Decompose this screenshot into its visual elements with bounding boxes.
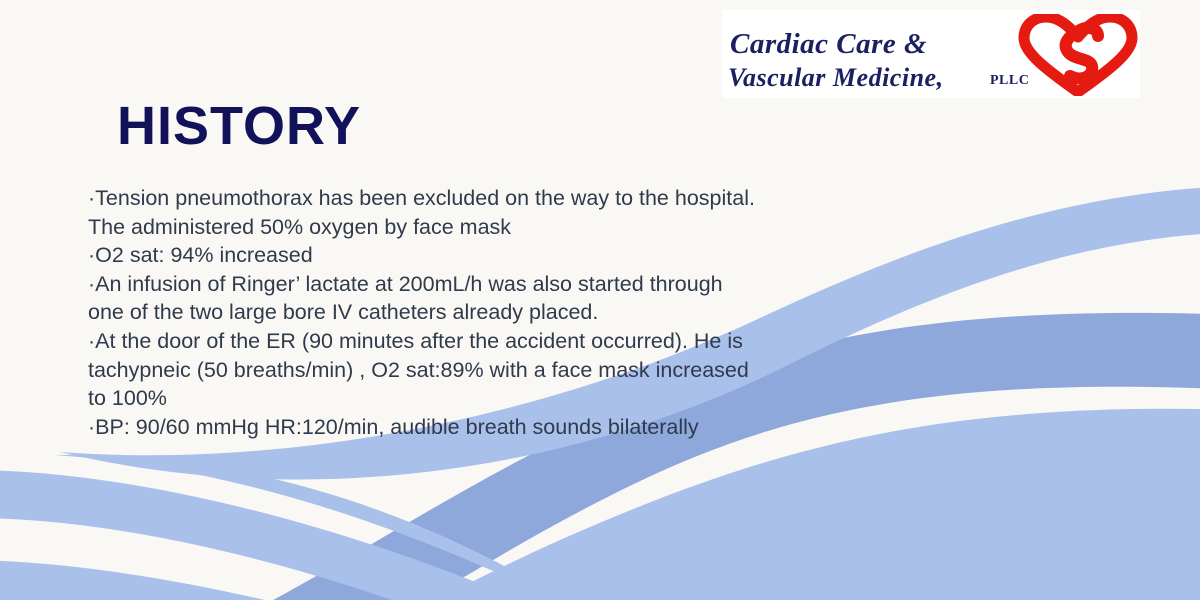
body-line: ·At the door of the ER (90 minutes after… bbox=[88, 327, 968, 356]
wave-band-light-arc bbox=[55, 455, 600, 600]
body-line: to 100% bbox=[88, 384, 968, 413]
logo-line-1: Cardiac Care & bbox=[730, 28, 927, 61]
wave-band-light-bottom bbox=[0, 560, 600, 600]
body-line: one of the two large bore IV catheters a… bbox=[88, 298, 968, 327]
body-line: ·An infusion of Ringer’ lactate at 200mL… bbox=[88, 270, 968, 299]
page-title: HISTORY bbox=[117, 98, 361, 155]
heart-with-s-icon bbox=[1018, 14, 1138, 96]
company-logo: Cardiac Care & Vascular Medicine, PLLC bbox=[722, 10, 1140, 98]
slide-body: ·Tension pneumothorax has been excluded … bbox=[88, 184, 968, 441]
logo-line-2: Vascular Medicine, bbox=[728, 63, 944, 93]
body-line: The administered 50% oxygen by face mask bbox=[88, 213, 968, 242]
logo-wordmark: Cardiac Care & Vascular Medicine, bbox=[728, 14, 1028, 96]
body-line: tachypneic (50 breaths/min) , O2 sat:89%… bbox=[88, 356, 968, 385]
body-line: ·Tension pneumothorax has been excluded … bbox=[88, 184, 968, 213]
slide-canvas: Cardiac Care & Vascular Medicine, PLLC H… bbox=[0, 0, 1200, 600]
body-line: ·BP: 90/60 mmHg HR:120/min, audible brea… bbox=[88, 413, 968, 442]
wave-band-light-mid bbox=[0, 470, 520, 600]
body-line: ·O2 sat: 94% increased bbox=[88, 241, 968, 270]
